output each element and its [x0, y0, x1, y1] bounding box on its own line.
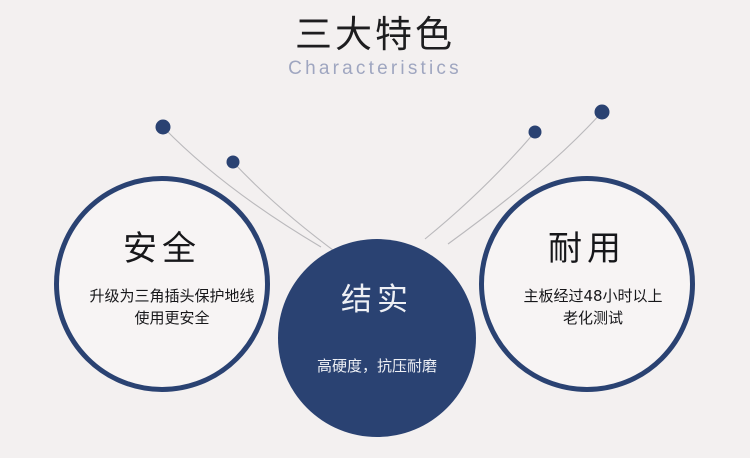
- feature-desc-line: 升级为三角插头保护地线: [69, 285, 275, 307]
- feature-circle-solid: 结实 高硬度，抗压耐磨: [278, 239, 476, 437]
- feature-circle-durable: 耐用 主板经过48小时以上 老化测试: [479, 176, 695, 392]
- dot-left-outer: [156, 120, 171, 135]
- feature-title-durable: 耐用: [484, 229, 690, 269]
- feature-title-solid: 结实: [278, 281, 476, 319]
- dot-right-inner: [529, 126, 542, 139]
- page-subtitle: Characteristics: [0, 57, 750, 81]
- dot-left-inner: [227, 156, 240, 169]
- feature-description-solid: 高硬度，抗压耐磨: [278, 356, 476, 378]
- header: 三大特色 Characteristics: [0, 14, 750, 81]
- page-title: 三大特色: [0, 14, 750, 56]
- feature-circle-safety: 安全 升级为三角插头保护地线 使用更安全: [54, 176, 270, 392]
- infographic-canvas: 三大特色 Characteristics 安全 升级为三角插头保护地线 使用更安…: [0, 0, 750, 458]
- feature-title-safety: 安全: [59, 229, 265, 269]
- feature-desc-line: 老化测试: [490, 307, 696, 329]
- feature-desc-line: 使用更安全: [69, 307, 275, 329]
- feature-description-durable: 主板经过48小时以上 老化测试: [484, 285, 702, 329]
- dot-right-outer: [595, 105, 610, 120]
- feature-desc-line: 主板经过48小时以上: [490, 285, 696, 307]
- feature-description-safety: 升级为三角插头保护地线 使用更安全: [59, 285, 285, 329]
